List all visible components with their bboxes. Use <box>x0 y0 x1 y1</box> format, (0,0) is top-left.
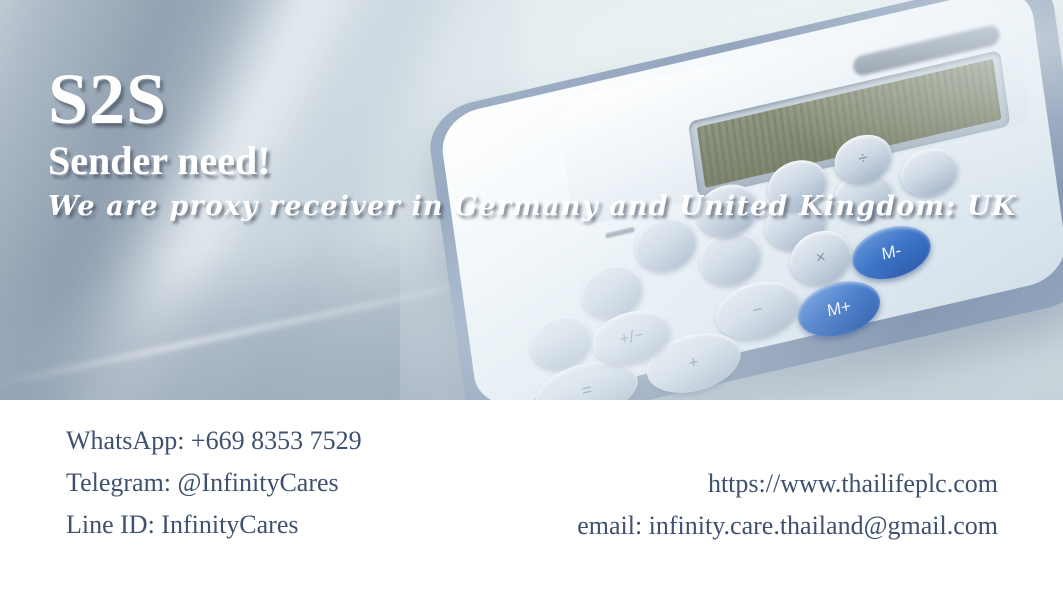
contact-footer: WhatsApp: +669 8353 7529 Telegram: @Infi… <box>0 400 1063 600</box>
calculator-indicator-dash <box>605 227 635 239</box>
hero-subtitle: Sender need! <box>48 138 1048 184</box>
contact-list-right: https://www.thailifeplc.com email: infin… <box>500 463 1010 547</box>
hero-text-block: S2S Sender need! We are proxy receiver i… <box>48 62 1048 224</box>
contact-website[interactable]: https://www.thailifeplc.com <box>500 463 1010 505</box>
key-memory-minus[interactable]: M- <box>849 219 934 287</box>
page-title: S2S <box>48 62 1048 136</box>
promo-banner: ÷ × − + = +/− M+ M- S2S Sender need! We … <box>0 0 1063 600</box>
contact-email[interactable]: email: infinity.care.thailand@gmail.com <box>500 505 1010 547</box>
hero-section: ÷ × − + = +/− M+ M- S2S Sender need! We … <box>0 0 1063 400</box>
hero-tagline: We are proxy receiver in Germany and Uni… <box>48 190 1048 224</box>
contact-whatsapp[interactable]: WhatsApp: +669 8353 7529 <box>66 420 586 462</box>
